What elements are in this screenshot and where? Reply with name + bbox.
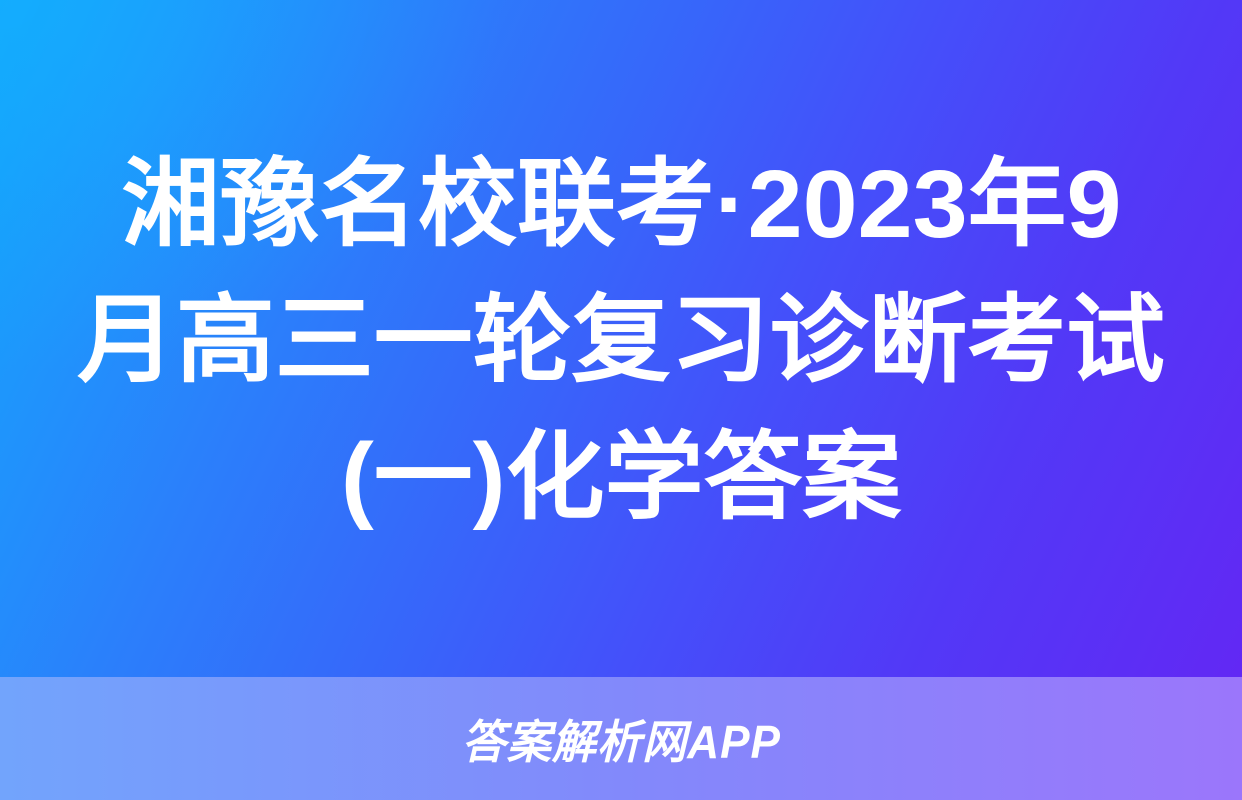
poster-title-block: 湘豫名校联考·2023年9 月高三一轮复习诊断考试 (一)化学答案: [0, 0, 1242, 677]
poster-canvas: 湘豫名校联考·2023年9 月高三一轮复习诊断考试 (一)化学答案 答案解析网A…: [0, 0, 1242, 800]
footer-brand-text: 答案解析网APP: [461, 706, 780, 772]
title-line-1: 湘豫名校联考·2023年9: [121, 137, 1121, 273]
title-line-2: 月高三一轮复习诊断考试: [77, 273, 1165, 409]
title-line-3: (一)化学答案: [341, 410, 901, 546]
footer-brand-band: 答案解析网APP: [0, 677, 1242, 800]
